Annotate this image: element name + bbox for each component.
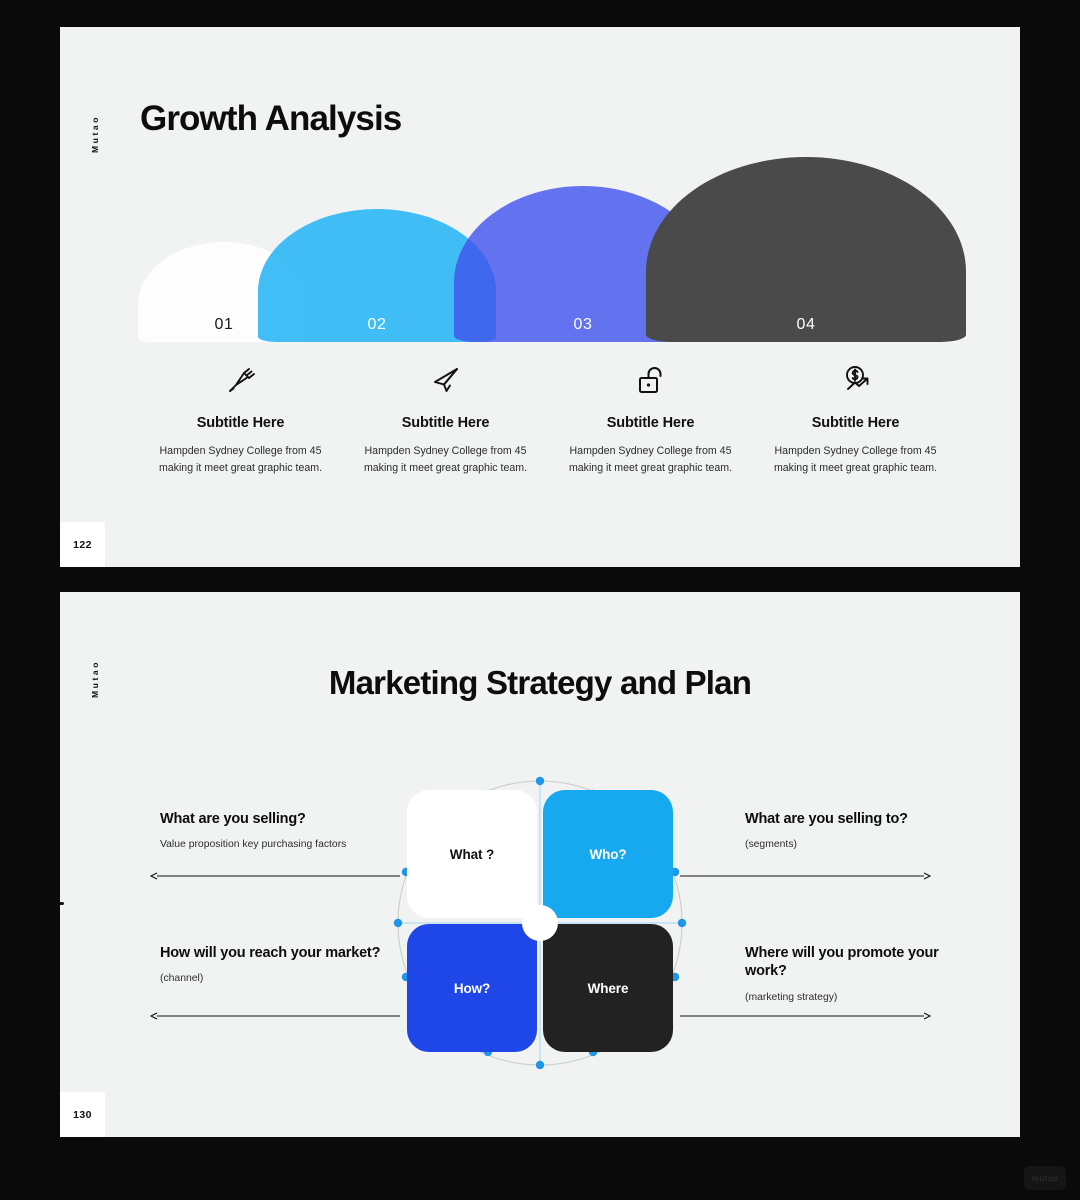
quadrant-label: How? (454, 981, 490, 996)
feature-card-title: Subtitle Here (556, 415, 745, 431)
dollar-growth-arrow-icon (761, 359, 950, 401)
feature-card-body: Hampden Sydney College from 45 making it… (556, 443, 745, 477)
feature-card-body: Hampden Sydney College from 45 making it… (351, 443, 540, 477)
callout-where-will-you-promote: Where will you promote your work? (marke… (745, 944, 975, 1005)
feature-card-title: Subtitle Here (761, 415, 950, 431)
growth-dome-chart: 01 02 03 04 (60, 157, 1020, 342)
quadrant-who[interactable]: Who? (543, 790, 673, 918)
dome-bar-04: 04 (646, 157, 966, 342)
callout-subtitle: Value proposition key purchasing factors (160, 838, 390, 853)
callout-how-will-you-reach: How will you reach your market? (channel… (160, 944, 390, 987)
quadrant-label: What ? (450, 847, 494, 862)
pencil-write-icon (146, 359, 335, 401)
feature-card: Subtitle Here Hampden Sydney College fro… (343, 359, 548, 477)
open-padlock-icon (556, 359, 745, 401)
quadrant-what[interactable]: What ? (407, 790, 537, 918)
callout-what-are-you-selling-to: What are you selling to? (segments) (745, 810, 975, 853)
callout-title: Where will you promote your work? (745, 944, 975, 981)
dome-label-04: 04 (646, 316, 966, 334)
matrix-center-hub (522, 905, 558, 941)
feature-card: Subtitle Here Hampden Sydney College fro… (548, 359, 753, 477)
quadrant-label: Where (588, 981, 629, 996)
callout-subtitle: (segments) (745, 838, 975, 853)
feature-card: Subtitle Here Hampden Sydney College fro… (138, 359, 343, 477)
quadrant-label: Who? (589, 847, 626, 862)
feature-card: Subtitle Here Hampden Sydney College fro… (753, 359, 958, 477)
slide-growth-analysis: Mutao Growth Analysis 01 02 03 04 (60, 27, 1020, 567)
feature-card-title: Subtitle Here (146, 415, 335, 431)
presentation-deck: Mutao Growth Analysis 01 02 03 04 (0, 0, 1080, 1200)
callout-title: What are you selling? (160, 810, 390, 828)
page-number-badge: 130 (60, 1092, 105, 1137)
callout-title: How will you reach your market? (160, 944, 390, 962)
callout-subtitle: (channel) (160, 972, 390, 987)
paper-plane-icon (351, 359, 540, 401)
quadrant-where[interactable]: Where (543, 924, 673, 1052)
feature-card-body: Hampden Sydney College from 45 making it… (146, 443, 335, 477)
brand-label: Mutao (90, 115, 100, 153)
callout-what-are-you-selling: What are you selling? Value proposition … (160, 810, 390, 853)
feature-card-list: Subtitle Here Hampden Sydney College fro… (138, 359, 958, 477)
callout-title: What are you selling to? (745, 810, 975, 828)
marketing-matrix: What ? Who? How? Where What are you sell… (60, 752, 1020, 1112)
watermark-logo: mutao (1024, 1166, 1066, 1190)
feature-card-body: Hampden Sydney College from 45 making it… (761, 443, 950, 477)
slide-marketing-strategy: Mutao Marketing Strategy and Plan (60, 592, 1020, 1137)
callout-subtitle: (marketing strategy) (745, 991, 975, 1006)
page-number-badge: 122 (60, 522, 105, 567)
page-title: Growth Analysis (140, 99, 401, 139)
feature-card-title: Subtitle Here (351, 415, 540, 431)
page-title: Marketing Strategy and Plan (60, 664, 1020, 702)
quadrant-how[interactable]: How? (407, 924, 537, 1052)
